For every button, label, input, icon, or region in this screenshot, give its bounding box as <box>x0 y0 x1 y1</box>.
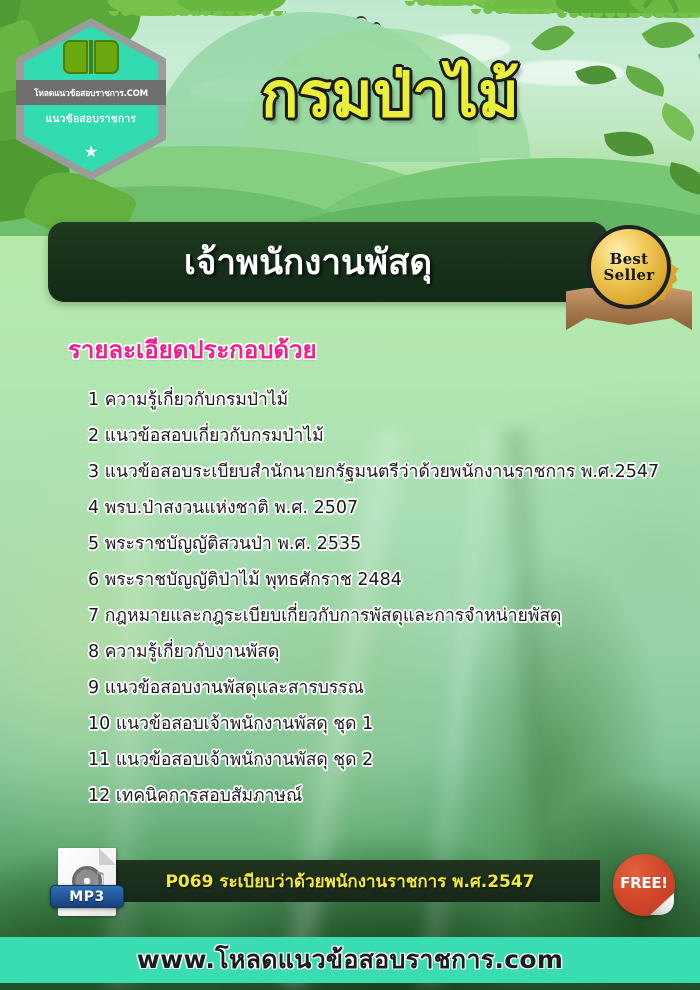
footer-bar: www.โหลดแนวข้อสอบราชการ.com <box>0 937 700 983</box>
position-banner: เจ้าพนักงานพัสดุ <box>48 222 608 302</box>
poster-root: โหลดแนวข้อสอบราชการ.COM แนวข้อสอบราชการ … <box>0 0 700 990</box>
fern-frond <box>404 0 494 6</box>
free-sticker-text: FREE! <box>613 874 675 892</box>
book-page-right <box>94 40 119 74</box>
free-sticker: FREE! <box>613 854 675 916</box>
list-item: 5 พระราชบัญญัติสวนป่า พ.ศ. 2535 <box>88 527 678 563</box>
list-item: 10 แนวข้อสอบเจ้าพนักงานพัสดุ ชุด 1 <box>88 707 678 743</box>
list-item: 9 แนวข้อสอบงานพัสดุและสารบรรณ <box>88 671 678 707</box>
list-item: 12 เทคนิคการสอบสัมภาษณ์ <box>88 779 678 815</box>
logo-subtitle: แนวข้อสอบราชการ <box>16 112 166 127</box>
bonus-promo-text: P069 ระเบียบว่าด้วยพนักงานราชการ พ.ศ.254… <box>165 868 534 895</box>
best-seller-badge: Best Seller <box>570 218 688 338</box>
book-spine <box>89 40 93 74</box>
mp3-label-banner: MP3 <box>50 885 124 908</box>
logo-ribbon-text: โหลดแนวข้อสอบราชการ.COM <box>34 86 148 100</box>
list-item: 1 ความรู้เกี่ยวกับกรมป่าไม้ <box>88 383 678 419</box>
best-seller-line2: Seller <box>603 267 654 283</box>
mp3-file-icon: ♫ MP3 <box>50 848 124 916</box>
site-logo-badge[interactable]: โหลดแนวข้อสอบราชการ.COM แนวข้อสอบราชการ … <box>16 18 166 180</box>
logo-ribbon: โหลดแนวข้อสอบราชการ.COM <box>16 80 166 105</box>
badge-disc: Best Seller <box>587 225 671 309</box>
list-item: 8 ความรู้เกี่ยวกับงานพัสดุ <box>88 635 678 671</box>
page-title: กรมป่าไม้ <box>180 62 600 127</box>
open-book-icon <box>63 40 119 76</box>
list-item: 3 แนวข้อสอบระเบียบสำนักนายกรัฐมนตรีว่าด้… <box>88 455 678 491</box>
list-item: 6 พระราชบัญญัติป่าไม้ พุทธศักราช 2484 <box>88 563 678 599</box>
best-seller-line1: Best <box>610 251 649 267</box>
position-banner-text: เจ้าพนักงานพัสดุ <box>184 235 472 290</box>
fern-frond <box>176 0 286 16</box>
list-item: 4 พรบ.ป่าสงวนแห่งชาติ พ.ศ. 2507 <box>88 491 678 527</box>
list-item: 2 แนวข้อสอบเกี่ยวกับกรมป่าไม้ <box>88 419 678 455</box>
mp3-label-text: MP3 <box>69 889 104 905</box>
bonus-promo-bar: P069 ระเบียบว่าด้วยพนักงานราชการ พ.ศ.254… <box>100 860 600 902</box>
section-heading: รายละเอียดประกอบด้วย <box>68 330 317 369</box>
star-icon: ★ <box>84 144 98 160</box>
footer-website[interactable]: www.โหลดแนวข้อสอบราชการ.com <box>137 940 564 980</box>
book-page-left <box>63 40 88 74</box>
page-fold <box>99 848 116 865</box>
list-item: 11 แนวข้อสอบเจ้าพนักงานพัสดุ ชุด 2 <box>88 743 678 779</box>
contents-list: 1 ความรู้เกี่ยวกับกรมป่าไม้ 2 แนวข้อสอบเ… <box>88 383 678 815</box>
list-item: 7 กฎหมายและกฎระเบียบเกี่ยวกับการพัสดุและ… <box>88 599 678 635</box>
